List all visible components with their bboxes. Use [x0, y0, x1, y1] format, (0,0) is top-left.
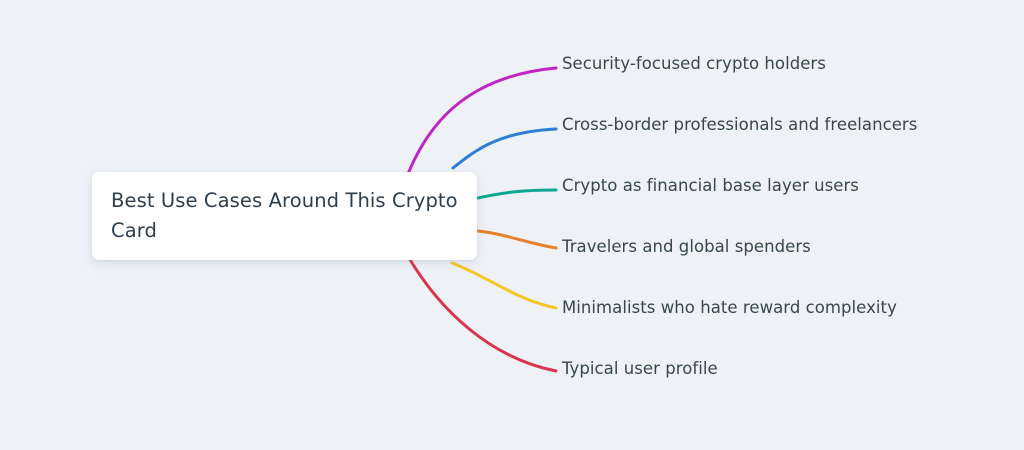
branch-label[interactable]: Security-focused crypto holders — [562, 54, 826, 74]
mindmap-canvas: Best Use Cases Around This Crypto Card S… — [0, 0, 1024, 450]
branch-label[interactable]: Cross-border professionals and freelance… — [562, 115, 917, 135]
branch-label[interactable]: Minimalists who hate reward complexity — [562, 298, 897, 318]
branch-connector-1 — [453, 129, 556, 168]
branch-label[interactable]: Crypto as financial base layer users — [562, 176, 859, 196]
branch-connector-5 — [409, 258, 556, 371]
root-node-card[interactable]: Best Use Cases Around This Crypto Card — [92, 172, 477, 260]
branch-connector-0 — [408, 68, 556, 174]
branch-connector-4 — [452, 263, 556, 308]
root-node-title: Best Use Cases Around This Crypto Card — [92, 186, 477, 246]
branch-connector-3 — [478, 231, 556, 248]
branch-label[interactable]: Travelers and global spenders — [562, 237, 811, 257]
branch-connector-2 — [478, 190, 556, 198]
branch-label[interactable]: Typical user profile — [562, 359, 718, 379]
